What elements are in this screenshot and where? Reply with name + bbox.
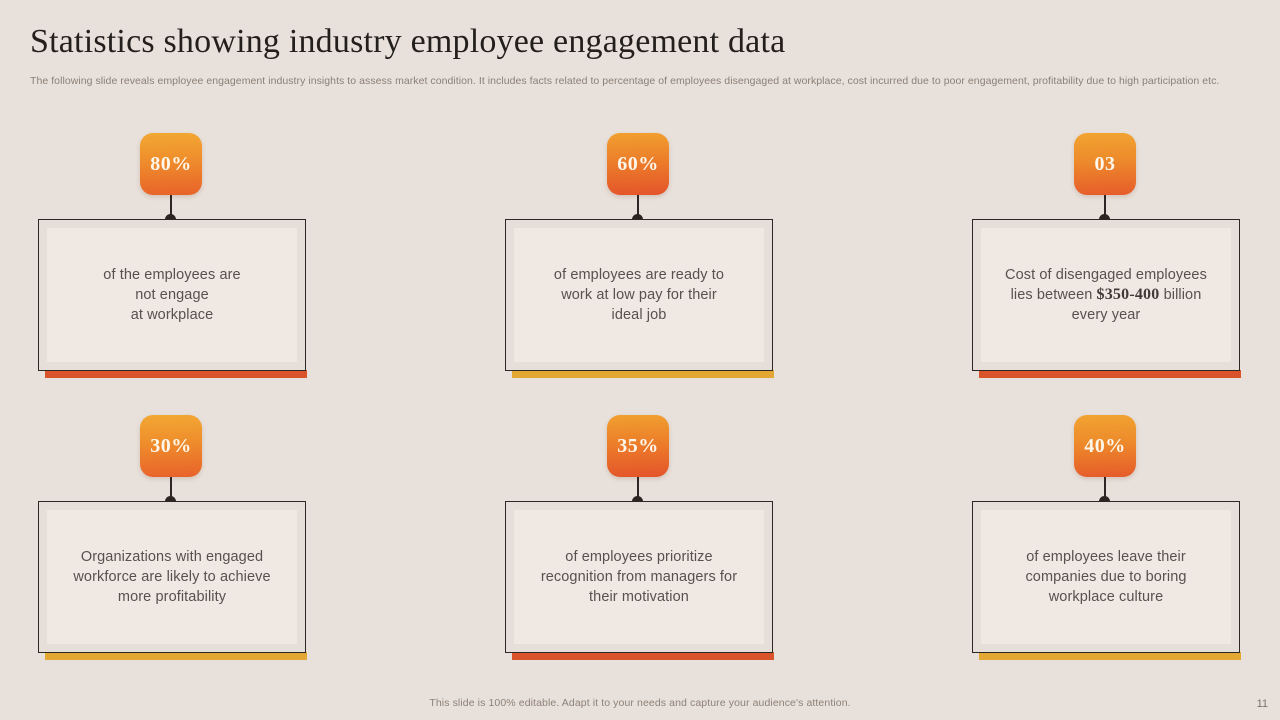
stat-badge-label: 60% xyxy=(617,154,659,174)
editable-note: This slide is 100% editable. Adapt it to… xyxy=(0,697,1280,709)
stat-card-body: Organizations with engaged workforce are… xyxy=(38,501,306,653)
stat-text-line: Organizations with engaged xyxy=(81,549,263,565)
stat-text-line: workforce are likely to achieve xyxy=(73,569,270,585)
stat-card-inner: Cost of disengaged employees lies betwee… xyxy=(981,228,1231,362)
stat-text-line: of employees are ready to xyxy=(554,267,724,283)
stat-card-inner: of employees are ready to work at low pa… xyxy=(514,228,764,362)
stat-card-text: of employees leave their companies due t… xyxy=(1025,547,1186,607)
stats-row-1: 80% of the employees are not engage at w… xyxy=(0,133,1280,415)
stat-card-inner: of employees prioritize recognition from… xyxy=(514,510,764,644)
stat-card-wrapper: Organizations with engaged workforce are… xyxy=(38,501,308,653)
page-title: Statistics showing industry employee eng… xyxy=(30,22,1250,63)
stat-badge-label: 40% xyxy=(1084,436,1126,456)
slide-header: Statistics showing industry employee eng… xyxy=(30,22,1250,88)
stat-text-line: workplace culture xyxy=(1049,589,1164,605)
card-accent-bar xyxy=(512,370,774,378)
stat-card-text: of employees are ready to work at low pa… xyxy=(554,265,724,325)
stat-badge-5[interactable]: 35% xyxy=(607,415,669,477)
stat-text-line: work at low pay for their xyxy=(561,287,717,303)
stat-badge-1[interactable]: 80% xyxy=(140,133,202,195)
stat-card-wrapper: of employees are ready to work at low pa… xyxy=(505,219,775,371)
slide-subtitle: The following slide reveals employee eng… xyxy=(30,74,1248,88)
stat-card-inner: of employees leave their companies due t… xyxy=(981,510,1231,644)
stats-row-2: 30% Organizations with engaged workforce… xyxy=(0,415,1280,697)
card-accent-bar xyxy=(979,370,1241,378)
stat-card-body: of employees leave their companies due t… xyxy=(972,501,1240,653)
stat-text-line: more profitability xyxy=(118,589,226,605)
stat-text-line: companies due to boring xyxy=(1025,569,1186,585)
stat-card-text: of employees prioritize recognition from… xyxy=(541,547,737,607)
stat-text-line: at workplace xyxy=(131,307,214,323)
stat-card-body: of employees are ready to work at low pa… xyxy=(505,219,773,371)
card-accent-bar xyxy=(512,652,774,660)
stat-card-text: Cost of disengaged employees lies betwee… xyxy=(993,265,1219,325)
stat-badge-label: 03 xyxy=(1095,154,1116,174)
stat-card-wrapper: Cost of disengaged employees lies betwee… xyxy=(972,219,1242,371)
stat-text-line: of the employees are xyxy=(103,267,240,283)
card-accent-bar xyxy=(45,652,307,660)
stat-badge-4[interactable]: 30% xyxy=(140,415,202,477)
card-accent-bar xyxy=(979,652,1241,660)
stat-card-text: of the employees are not engage at workp… xyxy=(103,265,240,325)
card-accent-bar xyxy=(45,370,307,378)
stat-badge-3[interactable]: 03 xyxy=(1074,133,1136,195)
stat-card-inner: Organizations with engaged workforce are… xyxy=(47,510,297,644)
stat-card-body: of the employees are not engage at workp… xyxy=(38,219,306,371)
stat-text-line: not engage xyxy=(135,287,209,303)
stat-text-line: of employees leave their xyxy=(1026,549,1186,565)
stat-badge-label: 80% xyxy=(150,154,192,174)
stat-badge-label: 30% xyxy=(150,436,192,456)
stat-card-wrapper: of the employees are not engage at workp… xyxy=(38,219,308,371)
stat-text-line: ideal job xyxy=(612,307,667,323)
page-number: 11 xyxy=(1257,698,1268,710)
stat-text-line: of employees prioritize xyxy=(565,549,712,565)
stat-text-line: their motivation xyxy=(589,589,689,605)
stat-card-body: of employees prioritize recognition from… xyxy=(505,501,773,653)
stat-card-text: Organizations with engaged workforce are… xyxy=(73,547,270,607)
stat-badge-6[interactable]: 40% xyxy=(1074,415,1136,477)
slide-canvas: Statistics showing industry employee eng… xyxy=(0,0,1280,720)
stat-card-wrapper: of employees prioritize recognition from… xyxy=(505,501,775,653)
stat-card-wrapper: of employees leave their companies due t… xyxy=(972,501,1242,653)
stat-card-inner: of the employees are not engage at workp… xyxy=(47,228,297,362)
stat-amount-value: $350-400 xyxy=(1097,286,1160,303)
stat-card-body: Cost of disengaged employees lies betwee… xyxy=(972,219,1240,371)
stat-badge-2[interactable]: 60% xyxy=(607,133,669,195)
stat-text-line: recognition from managers for xyxy=(541,569,737,585)
stats-grid: 80% of the employees are not engage at w… xyxy=(0,133,1280,697)
stat-badge-label: 35% xyxy=(617,436,659,456)
